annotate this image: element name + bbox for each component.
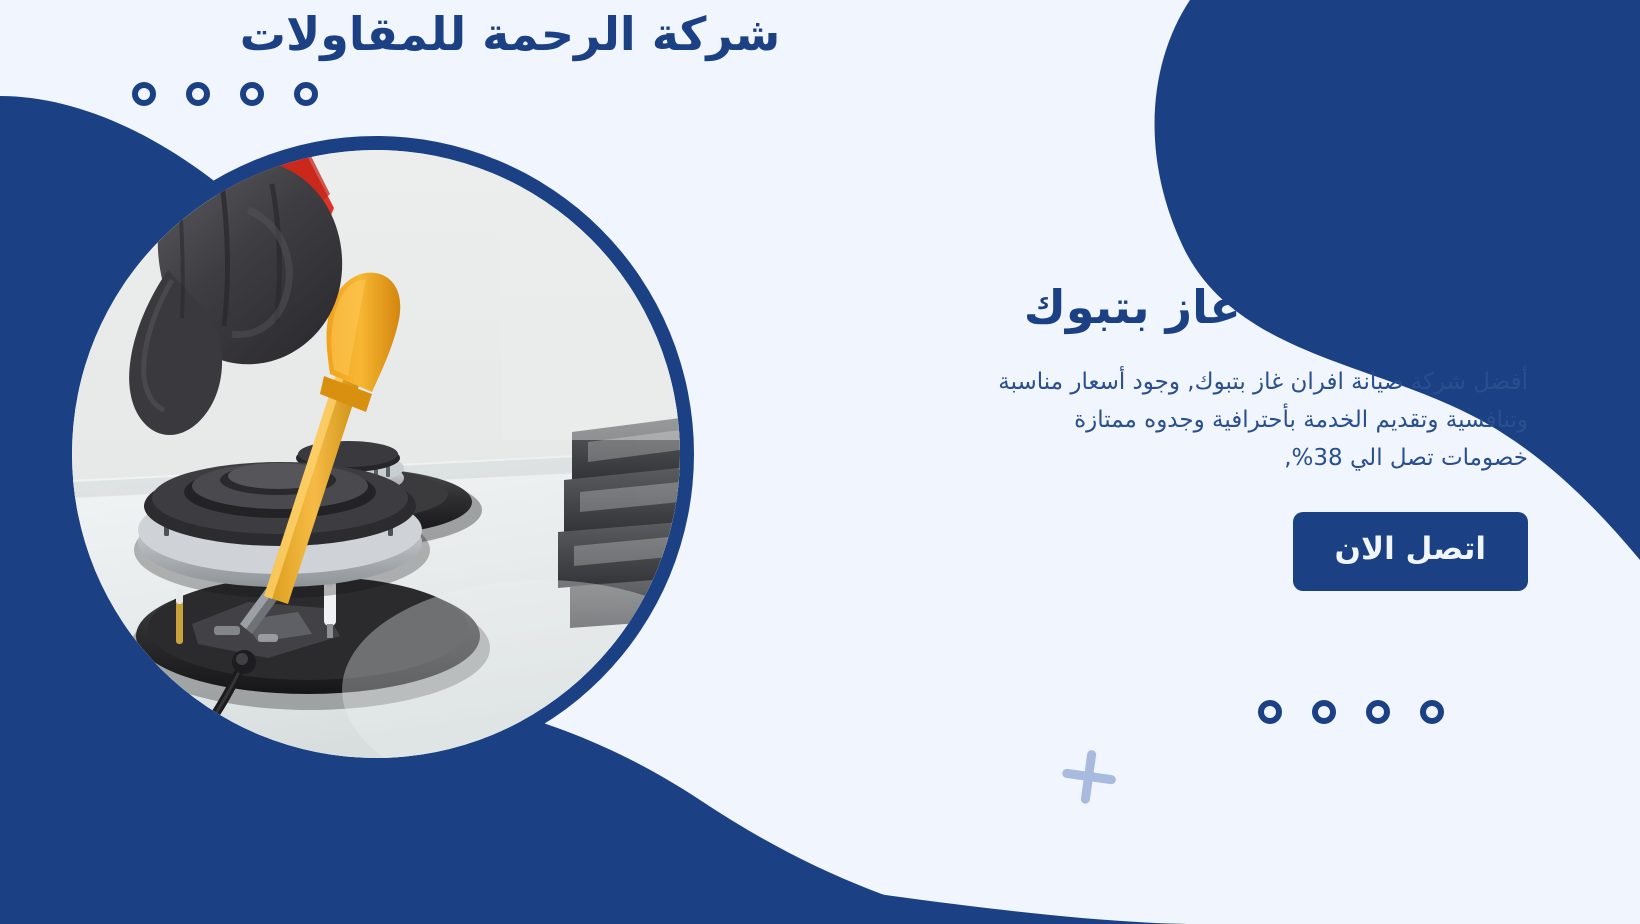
ring-dot-icon xyxy=(1420,700,1444,724)
banner-canvas: شركة الرحمة للمقاولات صيانة افران غاز بت… xyxy=(0,0,1640,924)
ring-dot-icon xyxy=(1366,700,1390,724)
ring-dot-icon xyxy=(1258,700,1282,724)
ring-dot-icon xyxy=(1312,700,1336,724)
content-column: صيانة افران غاز بتبوك أفضل شركة صيانة اف… xyxy=(828,278,1528,591)
call-now-button[interactable]: اتصل الان xyxy=(1293,512,1528,591)
body-line-3: خصومات تصل الي 38%, xyxy=(828,440,1528,478)
body-copy: أفضل شركة صيانة افران غاز بتبوك, وجود أس… xyxy=(828,364,1528,478)
thermocouple xyxy=(176,588,183,644)
ring-dot-icon xyxy=(132,82,156,106)
ring-dot-icon xyxy=(186,82,210,106)
hero-photo xyxy=(72,150,680,758)
plus-icon xyxy=(1056,744,1122,810)
ring-dot-icon xyxy=(294,82,318,106)
dots-decoration-bottom xyxy=(1258,700,1444,724)
headline: صيانة افران غاز بتبوك xyxy=(828,278,1528,338)
body-line-2: وتنافسية وتقديم الخدمة بأحترافية وجدوه م… xyxy=(828,402,1528,440)
ring-dot-icon xyxy=(240,82,264,106)
hero-photo-ring xyxy=(58,136,694,772)
gas-stove-repair-illustration xyxy=(72,150,680,758)
body-line-1: أفضل شركة صيانة افران غاز بتبوك, وجود أس… xyxy=(828,364,1528,402)
page-title: شركة الرحمة للمقاولات xyxy=(0,6,1640,64)
dots-decoration-top xyxy=(132,82,318,106)
